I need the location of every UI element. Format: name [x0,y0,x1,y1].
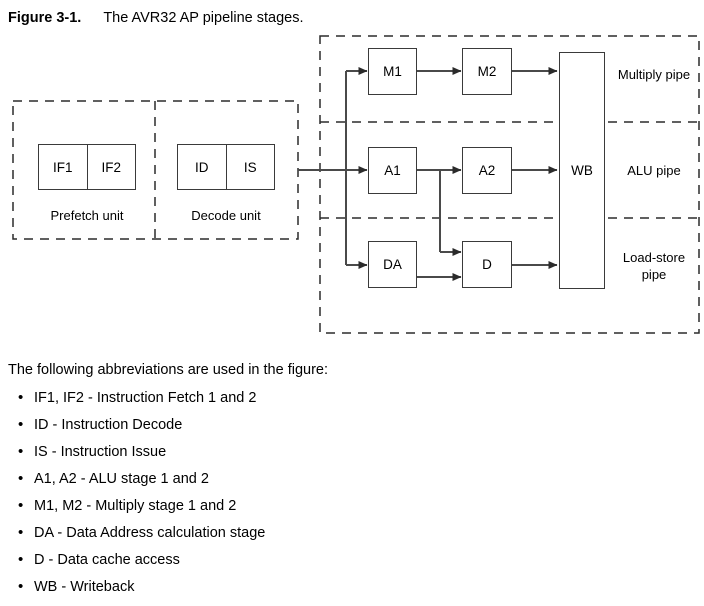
list-item: A1, A2 - ALU stage 1 and 2 [8,471,698,487]
list-item: IS - Instruction Issue [8,444,698,460]
stage-if2: IF2 [87,145,136,189]
abbreviations-intro: The following abbreviations are used in … [8,362,698,378]
abbreviations-section: The following abbreviations are used in … [8,362,698,606]
stage-a2: A2 [462,147,512,194]
decode-unit-caption: Decode unit [177,208,275,223]
list-item: ID - Instruction Decode [8,417,698,433]
list-item: IF1, IF2 - Instruction Fetch 1 and 2 [8,390,698,406]
pipe-label-alu: ALU pipe [610,162,698,179]
abbreviations-list: IF1, IF2 - Instruction Fetch 1 and 2 ID … [8,390,698,595]
stage-a1: A1 [368,147,417,194]
prefetch-unit-stages: IF1 IF2 [38,144,136,190]
pipe-label-load-store-line1: Load-store [610,249,698,266]
stage-id: ID [178,145,226,189]
prefetch-unit-caption: Prefetch unit [38,208,136,223]
stage-is: IS [226,145,275,189]
stage-wb: WB [559,52,605,289]
pipe-label-load-store: Load-store pipe [610,249,698,283]
stage-m1: M1 [368,48,417,95]
pipe-label-load-store-line2: pipe [610,266,698,283]
decode-unit-stages: ID IS [177,144,275,190]
list-item: M1, M2 - Multiply stage 1 and 2 [8,498,698,514]
list-item: WB - Writeback [8,579,698,595]
list-item: D - Data cache access [8,552,698,568]
pipe-label-multiply: Multiply pipe [610,66,698,83]
stage-d: D [462,241,512,288]
stage-da: DA [368,241,417,288]
stage-if1: IF1 [39,145,87,189]
list-item: DA - Data Address calculation stage [8,525,698,541]
pipeline-diagram: IF1 IF2 Prefetch unit ID IS Decode unit … [0,0,704,345]
stage-m2: M2 [462,48,512,95]
